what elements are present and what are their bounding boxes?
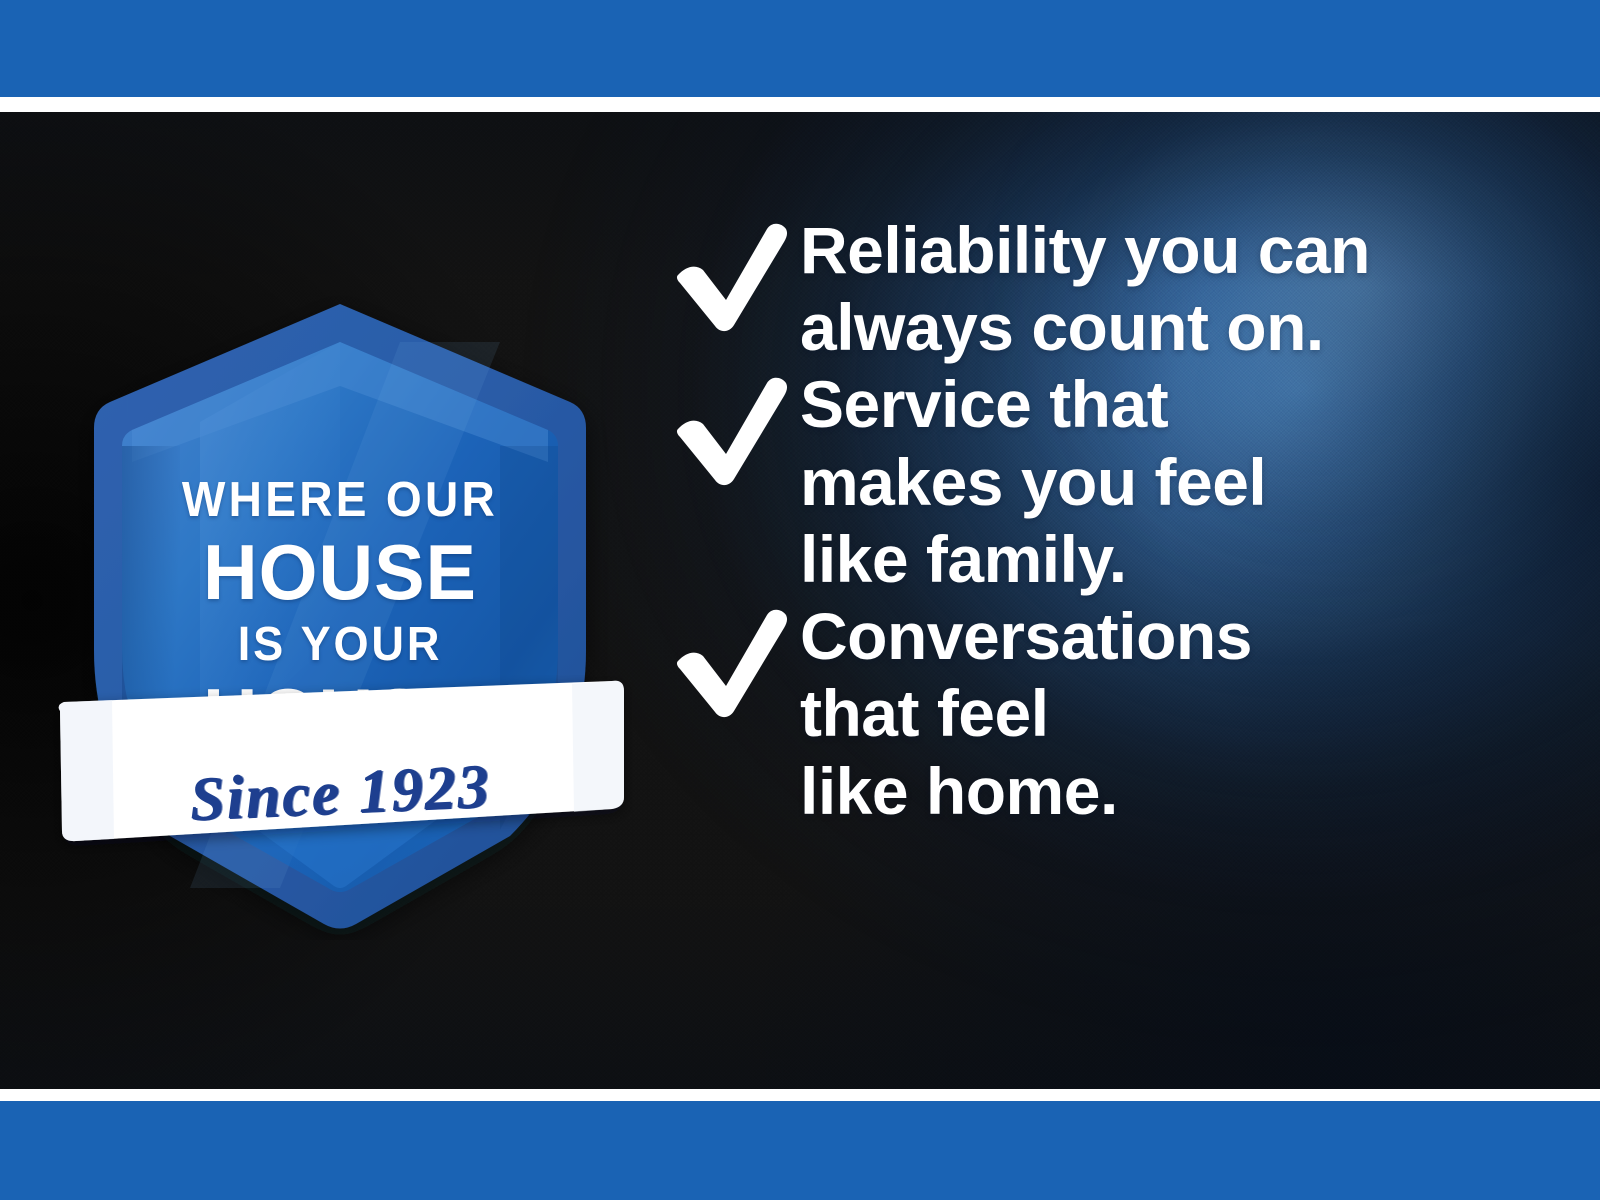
checkmark-icon bbox=[672, 606, 800, 718]
benefit-text: Conversations that feel like home. bbox=[800, 598, 1512, 830]
benefit-item: Conversations that feel like home. bbox=[672, 598, 1512, 830]
benefit-item: Reliability you can always count on. bbox=[672, 212, 1512, 366]
benefit-line: Service that bbox=[800, 366, 1512, 443]
top-brand-bar bbox=[0, 0, 1600, 97]
benefit-item: Service that makes you feel like family. bbox=[672, 366, 1512, 598]
benefit-line: Reliability you can bbox=[800, 212, 1512, 289]
benefit-text: Service that makes you feel like family. bbox=[800, 366, 1512, 598]
benefit-text: Reliability you can always count on. bbox=[800, 212, 1512, 366]
promo-graphic-canvas: WHERE OUR HOUSE IS YOUR HOUSE S bbox=[0, 0, 1600, 1200]
benefit-line: that feel bbox=[800, 675, 1512, 752]
benefit-line: like home. bbox=[800, 753, 1512, 830]
top-divider-stripe bbox=[0, 97, 1600, 112]
ribbon-banner bbox=[52, 675, 632, 865]
benefit-line: Conversations bbox=[800, 598, 1512, 675]
benefit-line: like family. bbox=[800, 521, 1512, 598]
benefit-line: makes you feel bbox=[800, 444, 1512, 521]
artwork-stage: WHERE OUR HOUSE IS YOUR HOUSE S bbox=[0, 112, 1600, 1089]
bottom-brand-bar bbox=[0, 1101, 1600, 1200]
shield-logo: WHERE OUR HOUSE IS YOUR HOUSE S bbox=[70, 290, 610, 940]
checkmark-icon bbox=[672, 220, 800, 332]
benefit-line: always count on. bbox=[800, 289, 1512, 366]
checkmark-icon bbox=[672, 374, 800, 486]
bottom-divider-stripe bbox=[0, 1089, 1600, 1101]
benefits-list: Reliability you can always count on. Ser… bbox=[672, 212, 1512, 830]
